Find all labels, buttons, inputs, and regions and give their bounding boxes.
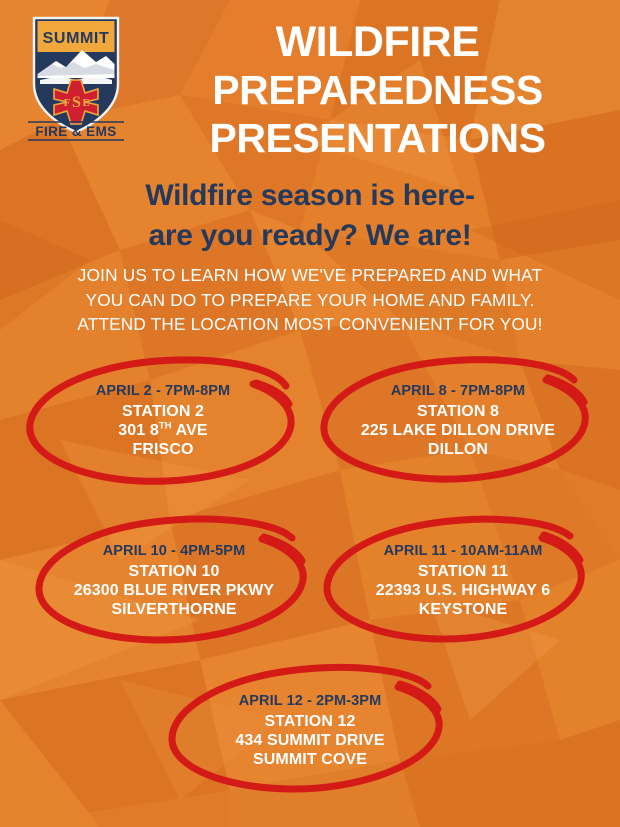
event-5-date: APRIL 12 - 2PM-3PM [160, 692, 460, 712]
poster-header: SUMMIT F S E FIRE & EMS WILDFIRE [0, 0, 620, 172]
event-1-station: STATION 2 [18, 402, 308, 421]
event-2-address: 225 LAKE DILLON DRIVE [312, 421, 604, 440]
event-5-text: APRIL 12 - 2PM-3PM STATION 12 434 SUMMIT… [160, 692, 460, 769]
poster-description: JOIN US TO LEARN HOW WE'VE PREPARED AND … [36, 263, 584, 337]
logo-fire-ems-text: FIRE & EMS [35, 124, 116, 139]
event-3-station: STATION 10 [28, 562, 320, 581]
event-4-address: 22393 U.S. HIGHWAY 6 [318, 581, 608, 600]
svg-text:S: S [72, 94, 81, 111]
event-3-address: 26300 BLUE RIVER PKWY [28, 581, 320, 600]
event-circle-3: APRIL 10 - 4PM-5PM STATION 10 26300 BLUE… [28, 512, 320, 652]
title-line-1: WILDFIRE [150, 18, 605, 66]
event-2-date: APRIL 8 - 7PM-8PM [312, 382, 604, 402]
svg-text:F: F [64, 97, 71, 109]
logo-summit-text: SUMMIT [43, 30, 110, 47]
summit-fire-ems-logo: SUMMIT F S E FIRE & EMS [26, 12, 126, 142]
svg-text:E: E [82, 97, 89, 109]
event-circle-4: APRIL 11 - 10AM-11AM STATION 11 22393 U.… [318, 512, 608, 652]
event-5-city: SUMMIT COVE [160, 750, 460, 769]
event-1-address-post: AVE [172, 422, 208, 439]
event-2-text: APRIL 8 - 7PM-8PM STATION 8 225 LAKE DIL… [312, 382, 604, 459]
event-5-address: 434 SUMMIT DRIVE [160, 731, 460, 750]
event-circle-1: APRIL 2 - 7PM-8PM STATION 2 301 8TH AVE … [18, 352, 308, 490]
event-1-date: APRIL 2 - 7PM-8PM [18, 382, 308, 402]
title-line-3: PRESENTATIONS [150, 114, 605, 162]
event-1-address-superscript: TH [159, 421, 172, 432]
description-line-1: JOIN US TO LEARN HOW WE'VE PREPARED AND … [36, 263, 584, 288]
event-2-city: DILLON [312, 440, 604, 459]
event-3-text: APRIL 10 - 4PM-5PM STATION 10 26300 BLUE… [28, 542, 320, 619]
poster-subtitle: Wildfire season is here- are you ready? … [30, 176, 590, 256]
event-circle-5: APRIL 12 - 2PM-3PM STATION 12 434 SUMMIT… [160, 660, 460, 800]
event-2-station: STATION 8 [312, 402, 604, 421]
title-line-2: PREPAREDNESS [150, 66, 605, 114]
event-3-date: APRIL 10 - 4PM-5PM [28, 542, 320, 562]
description-line-3: ATTEND THE LOCATION MOST CONVENIENT FOR … [36, 312, 584, 337]
event-4-city: KEYSTONE [318, 600, 608, 619]
event-1-text: APRIL 2 - 7PM-8PM STATION 2 301 8TH AVE … [18, 382, 308, 459]
page-title: WILDFIRE PREPAREDNESS PRESENTATIONS [150, 18, 605, 162]
event-1-address: 301 8TH AVE [18, 421, 308, 440]
wildfire-preparedness-poster: SUMMIT F S E FIRE & EMS WILDFIRE [0, 0, 620, 827]
description-line-2: YOU CAN DO TO PREPARE YOUR HOME AND FAMI… [36, 288, 584, 313]
subtitle-line-2: are you ready? We are! [30, 216, 590, 256]
event-circle-2: APRIL 8 - 7PM-8PM STATION 8 225 LAKE DIL… [312, 352, 604, 490]
event-5-station: STATION 12 [160, 712, 460, 731]
event-4-text: APRIL 11 - 10AM-11AM STATION 11 22393 U.… [318, 542, 608, 619]
event-1-city: FRISCO [18, 440, 308, 459]
event-4-date: APRIL 11 - 10AM-11AM [318, 542, 608, 562]
subtitle-line-1: Wildfire season is here- [30, 176, 590, 216]
event-1-address-pre: 301 8 [118, 422, 159, 439]
event-4-station: STATION 11 [318, 562, 608, 581]
event-3-city: SILVERTHORNE [28, 600, 320, 619]
